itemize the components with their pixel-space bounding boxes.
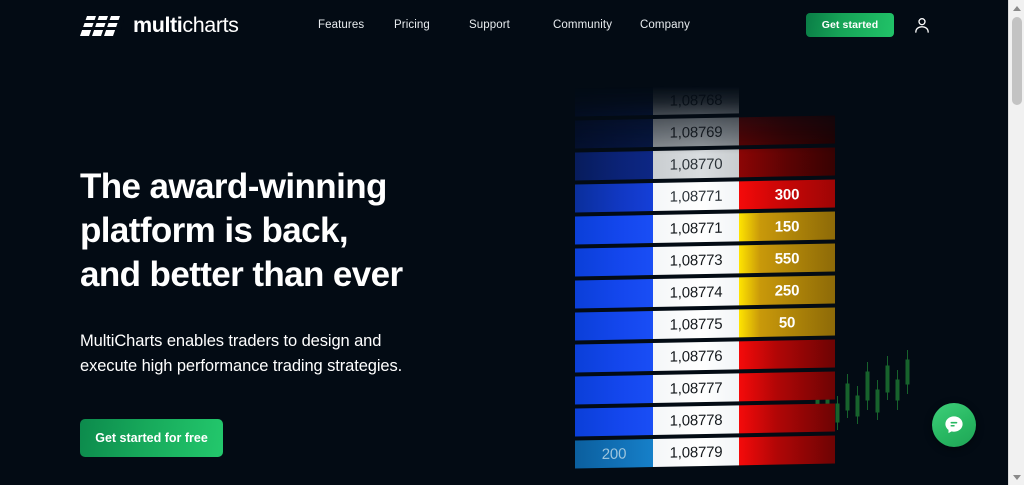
ladder-price: 1,08771	[653, 213, 739, 243]
ladder-ask-quantity[interactable]: 50	[739, 308, 835, 338]
ladder-row[interactable]: 1,08773550	[575, 244, 835, 277]
ladder-ask-quantity[interactable]	[739, 404, 835, 434]
ladder-ask-quantity[interactable]: 250	[739, 276, 835, 306]
ladder-bid-quantity[interactable]	[575, 407, 653, 436]
ladder-ask-quantity[interactable]	[739, 340, 835, 370]
ladder-price: 1,08771	[653, 181, 739, 211]
ladder-bid-quantity[interactable]	[575, 87, 653, 116]
nav-item-community[interactable]: Community	[553, 19, 640, 31]
brand-name-bold: multi	[133, 13, 182, 37]
candlestick-chart-secondary	[810, 300, 1008, 485]
ladder-price: 1,08779	[653, 437, 739, 467]
ladder-price: 1,08769	[653, 117, 739, 147]
ladder-ask-quantity[interactable]: 150	[739, 212, 835, 242]
hero-subtitle-line: MultiCharts enables traders to design an…	[80, 329, 510, 354]
ladder-bid-quantity[interactable]	[575, 119, 653, 148]
ladder-bid-quantity[interactable]	[575, 183, 653, 212]
multicharts-bars-logo-icon	[80, 16, 124, 36]
ladder-price: 1,08773	[653, 245, 739, 275]
nav-item-pricing[interactable]: Pricing	[394, 19, 469, 31]
ladder-bid-quantity[interactable]	[575, 311, 653, 340]
hero-subtitle-line: execute high performance trading strateg…	[80, 354, 510, 379]
ladder-price: 1,08778	[653, 405, 739, 435]
ladder-bid-quantity[interactable]	[575, 279, 653, 308]
ladder-bid-quantity[interactable]	[575, 215, 653, 244]
chat-bubble-icon	[943, 414, 965, 436]
main-navigation: FeaturesPricingSupportCommunityCompany	[318, 19, 710, 31]
hero-title-line: The award-winning	[80, 165, 510, 209]
ladder-ask-quantity[interactable]: 300	[739, 180, 835, 210]
ladder-bid-quantity[interactable]	[575, 247, 653, 276]
ladder-price: 1,08776	[653, 341, 739, 371]
scroll-down-arrow-icon[interactable]	[1009, 469, 1024, 485]
ladder-row[interactable]: 1,0877550	[575, 308, 835, 341]
ladder-price: 1,08770	[653, 149, 739, 179]
ladder-bid-quantity[interactable]	[575, 151, 653, 180]
ladder-bid-quantity[interactable]	[575, 343, 653, 372]
hero-title-line: and better than ever	[80, 253, 510, 297]
ladder-row[interactable]: 2001,08779	[575, 436, 835, 469]
ladder-bid-quantity[interactable]	[575, 375, 653, 404]
brand-name-light: charts	[182, 13, 238, 37]
ladder-price: 1,08774	[653, 277, 739, 307]
page-title: The award-winningplatform is back,and be…	[80, 165, 510, 297]
ladder-ask-quantity[interactable]	[739, 436, 835, 466]
ladder-ask-quantity[interactable]	[739, 116, 835, 146]
hero-title-line: platform is back,	[80, 209, 510, 253]
ladder-row[interactable]: 1,08768	[575, 84, 835, 117]
brand-logo[interactable]: multicharts	[80, 13, 239, 38]
ladder-row[interactable]: 1,08778	[575, 404, 835, 437]
ladder-row[interactable]: 1,08774250	[575, 276, 835, 309]
ladder-row[interactable]: 1,08771150	[575, 212, 835, 245]
hero-get-started-for-free-button[interactable]: Get started for free	[80, 419, 223, 457]
ladder-price: 1,08775	[653, 309, 739, 339]
header-get-started-button[interactable]: Get started	[806, 13, 894, 37]
hero-section: The award-winningplatform is back,and be…	[80, 165, 510, 457]
user-account-icon[interactable]	[912, 15, 932, 35]
nav-item-support[interactable]: Support	[469, 19, 553, 31]
brand-wordmark: multicharts	[133, 13, 239, 38]
page-root: 1,087681,087691,087701,087713001,0877115…	[0, 0, 1008, 485]
ladder-ask-quantity[interactable]	[739, 372, 835, 402]
site-header: multicharts FeaturesPricingSupportCommun…	[0, 0, 1008, 50]
scroll-up-arrow-icon[interactable]	[1009, 0, 1024, 16]
ladder-row[interactable]: 1,08777	[575, 372, 835, 405]
nav-item-features[interactable]: Features	[318, 19, 394, 31]
nav-item-company[interactable]: Company	[640, 19, 710, 31]
hero-subtitle: MultiCharts enables traders to design an…	[80, 329, 510, 379]
ladder-price: 1,08777	[653, 373, 739, 403]
ladder-row[interactable]: 1,08771300	[575, 180, 835, 213]
ladder-ask-quantity[interactable]	[739, 84, 835, 114]
ladder-row[interactable]: 1,08769	[575, 116, 835, 149]
ladder-ask-quantity[interactable]: 550	[739, 244, 835, 274]
dom-price-ladder: 1,087681,087691,087701,087713001,0877115…	[575, 86, 835, 470]
ladder-bid-quantity[interactable]: 200	[575, 439, 653, 468]
chat-widget-button[interactable]	[932, 403, 976, 447]
scrollbar-thumb[interactable]	[1012, 17, 1022, 105]
ladder-row[interactable]: 1,08770	[575, 148, 835, 181]
ladder-ask-quantity[interactable]	[739, 148, 835, 178]
ladder-row[interactable]: 1,08776	[575, 340, 835, 373]
ladder-price: 1,08768	[653, 85, 739, 115]
browser-scrollbar[interactable]	[1008, 0, 1024, 485]
